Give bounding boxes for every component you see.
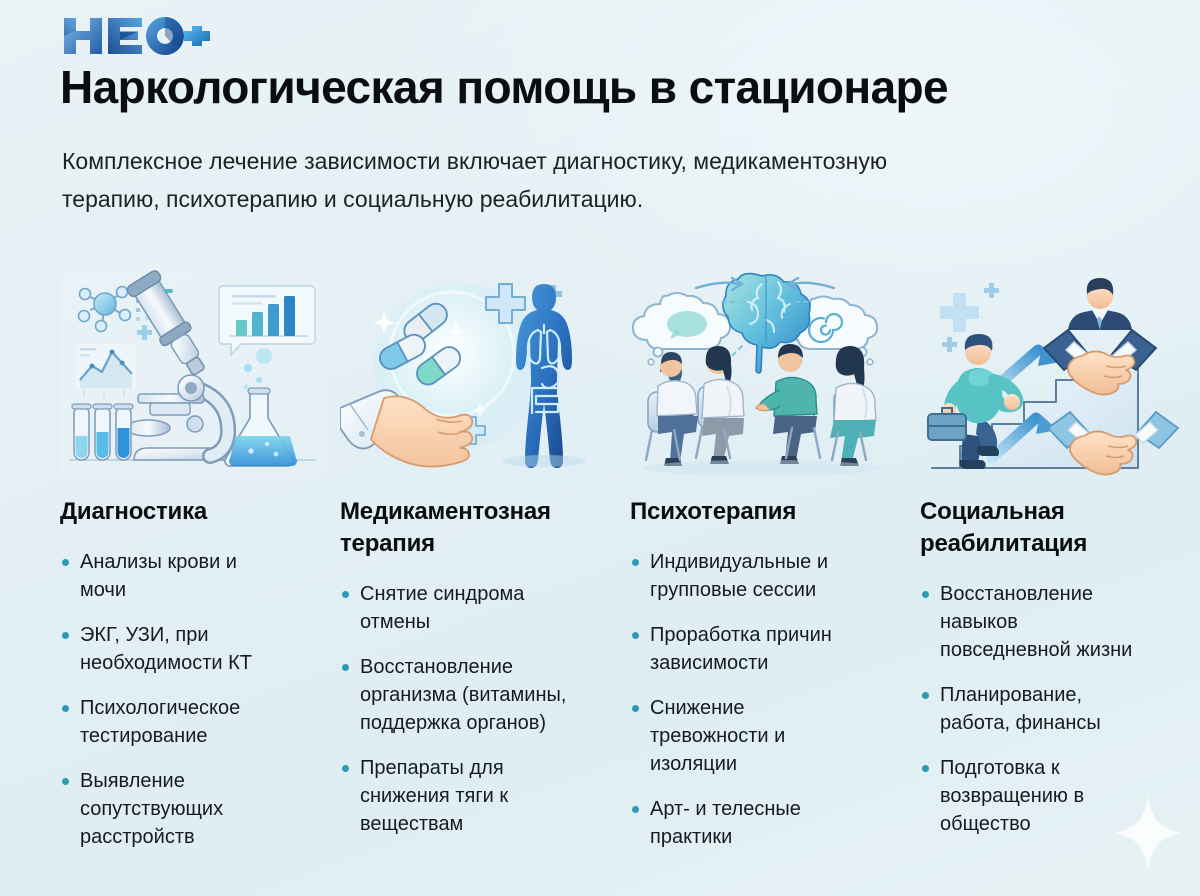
feature-columns: Диагностика Анализы крови и мочи ЭКГ, УЗ… [0, 268, 1200, 868]
list-item: Восстановление организма (витамины, подд… [340, 653, 568, 737]
laboratory-diagnostics-illustration [60, 268, 325, 480]
group-psychotherapy-illustration [630, 268, 895, 480]
list-item: Подготовка к возвращению в общество [920, 754, 1148, 838]
bullet-list-medication-therapy: Снятие синдрома отмены Восстановление ор… [340, 580, 568, 838]
column-title-medication-therapy: Медикаментозная терапия [340, 496, 568, 560]
social-rehabilitation-illustration [920, 268, 1185, 480]
column-title-diagnostics: Диагностика [60, 496, 278, 528]
page-subtitle: Комплексное лечение зависимости включает… [62, 142, 942, 218]
list-item: Индивидуальные и групповые сессии [630, 548, 858, 604]
page-title: Наркологическая помощь в стационаре [60, 60, 1170, 114]
medication-therapy-illustration [340, 268, 605, 480]
list-item: Снятие синдрома отмены [340, 580, 568, 636]
column-medication-therapy: Медикаментозная терапия Снятие синдрома … [290, 268, 580, 868]
neo-plus-logo [60, 12, 210, 58]
column-psychotherapy: Психотерапия Индивидуальные и групповые … [580, 268, 870, 868]
column-title-psychotherapy: Психотерапия [630, 496, 858, 528]
list-item: Анализы крови и мочи [60, 548, 278, 604]
list-item: Арт- и телесные практики [630, 795, 858, 851]
list-item: ЭКГ, УЗИ, при необходимости КТ [60, 621, 278, 677]
column-diagnostics: Диагностика Анализы крови и мочи ЭКГ, УЗ… [0, 268, 290, 868]
bullet-list-psychotherapy: Индивидуальные и групповые сессии Прораб… [630, 548, 858, 851]
list-item: Планирование, работа, финансы [920, 681, 1148, 737]
list-item: Препараты для снижения тяги к веществам [340, 754, 568, 838]
column-title-social-rehabilitation: Социальная реабилитация [920, 496, 1148, 560]
list-item: Восстановление навыков повседневной жизн… [920, 580, 1148, 664]
list-item: Снижение тревожности и изоляции [630, 694, 858, 778]
list-item: Психологическое тестирование [60, 694, 278, 750]
list-item: Проработка причин зависимости [630, 621, 858, 677]
infographic-page: Наркологическая помощь в стационаре Комп… [0, 0, 1200, 896]
column-social-rehabilitation: Социальная реабилитация Восстановление н… [870, 268, 1160, 868]
bullet-list-social-rehabilitation: Восстановление навыков повседневной жизн… [920, 580, 1148, 838]
bullet-list-diagnostics: Анализы крови и мочи ЭКГ, УЗИ, при необх… [60, 548, 278, 851]
list-item: Выявление сопутствующих расстройств [60, 767, 278, 851]
